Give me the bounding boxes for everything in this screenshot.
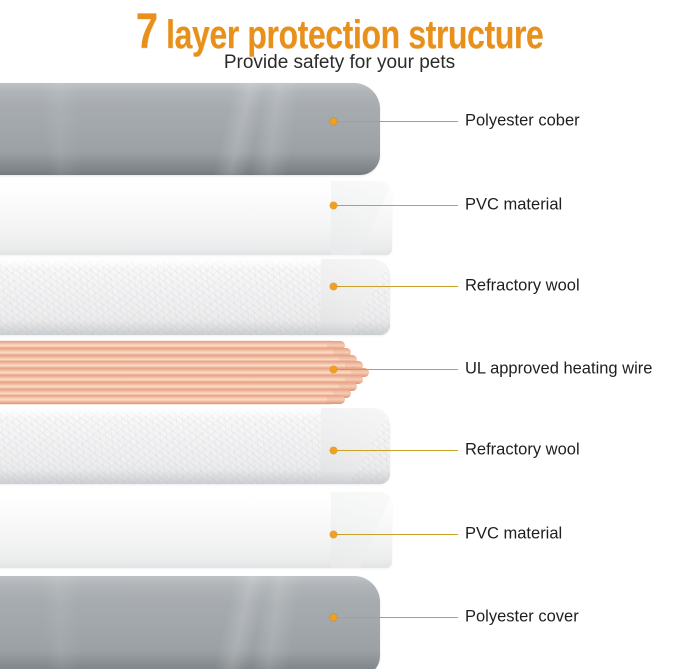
heating-wire-strand (0, 395, 336, 404)
layer-edge-slant (331, 181, 393, 255)
infographic-canvas: 7 layer protection structure Provide saf… (0, 0, 679, 669)
leader-line-2 (337, 205, 458, 206)
leader-line-5 (337, 450, 458, 451)
heating-wire-bend (327, 395, 345, 404)
layer-polyester-fabric-7 (0, 576, 380, 669)
layer-refractory-wool-3 (0, 259, 390, 335)
layer-label-2: PVC material (465, 196, 562, 215)
leader-dot-4 (330, 366, 337, 373)
layer-pvc-sheet-2 (0, 181, 392, 255)
title-rest: layer protection structure (158, 13, 544, 57)
title-number: 7 (136, 3, 158, 59)
layer-polyester-fabric-1 (0, 83, 380, 175)
leader-line-6 (337, 534, 458, 535)
layer-edge-slant (321, 259, 391, 335)
leader-line-1 (337, 121, 458, 122)
leader-dot-6 (330, 531, 337, 538)
layer-label-4: UL approved heating wire (465, 360, 652, 379)
leader-line-4 (337, 369, 458, 370)
layer-label-3: Refractory wool (465, 277, 580, 296)
layer-edge-bevel (0, 650, 380, 669)
layer-label-6: PVC material (465, 525, 562, 544)
leader-dot-1 (330, 118, 337, 125)
page-subtitle: Provide safety for your pets (0, 52, 679, 74)
leader-dot-2 (330, 202, 337, 209)
layer-pvc-sheet-6 (0, 492, 392, 568)
layer-label-5: Refractory wool (465, 441, 580, 460)
layer-heating-wire (0, 341, 360, 402)
leader-line-3 (337, 286, 458, 287)
layer-edge-slant (331, 492, 393, 568)
layer-label-1: Polyester cober (465, 112, 580, 131)
leader-dot-7 (330, 614, 337, 621)
layer-edge-bevel (0, 151, 380, 175)
leader-dot-5 (330, 447, 337, 454)
leader-dot-3 (330, 283, 337, 290)
leader-line-7 (337, 617, 458, 618)
layer-refractory-wool-5 (0, 408, 390, 484)
layer-edge-slant (321, 408, 391, 484)
layer-label-7: Polyester cover (465, 608, 579, 627)
